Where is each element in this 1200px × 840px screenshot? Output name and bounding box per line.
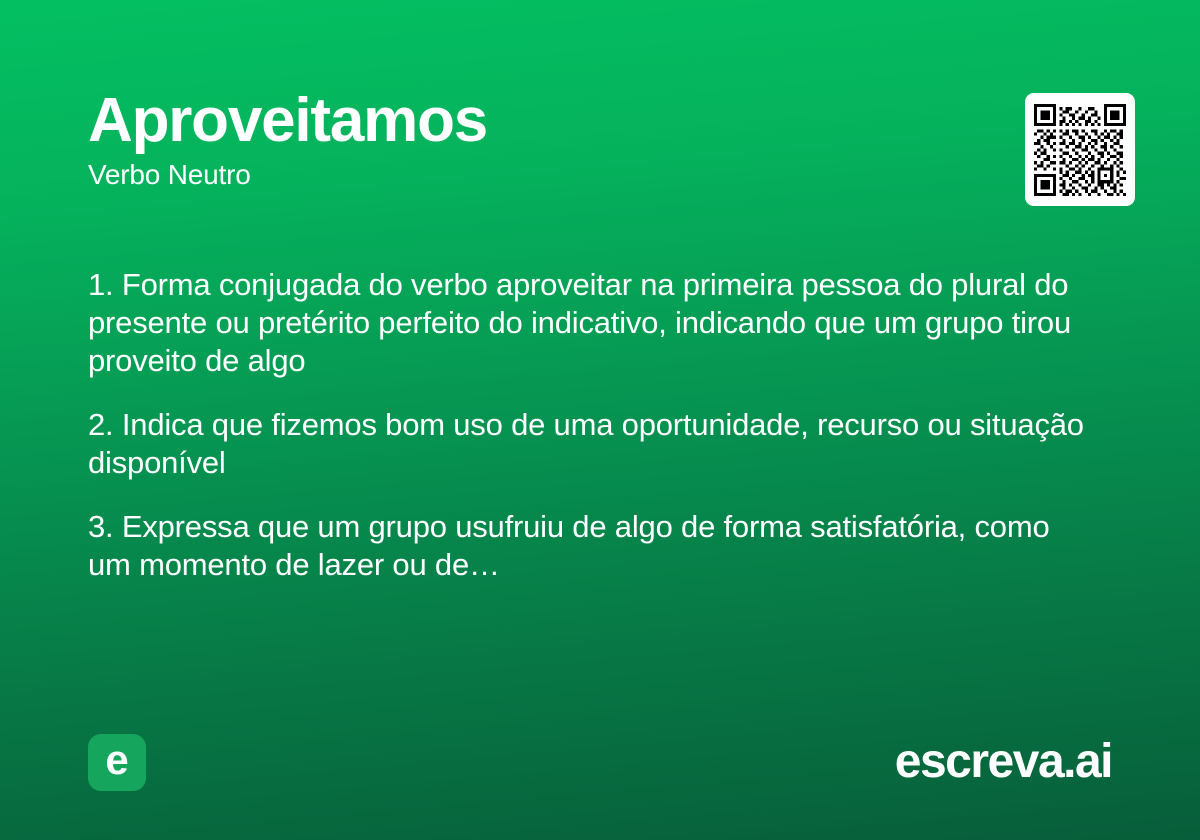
definition-list: 1. Forma conjugada do verbo aproveitar n… (88, 266, 1088, 584)
page-title: Aproveitamos (88, 88, 1112, 153)
escreva-logo-icon: e (88, 734, 146, 791)
word-class-subtitle: Verbo Neutro (88, 159, 1112, 191)
logo-letter: e (105, 739, 128, 781)
card-footer: e escreva.ai (88, 732, 1112, 792)
definition-item: 2. Indica que fizemos bom uso de uma opo… (88, 406, 1088, 482)
brand-wordmark: escreva.ai (895, 738, 1112, 786)
card-header: Aproveitamos Verbo Neutro (88, 88, 1112, 208)
qr-code-card[interactable] (1025, 93, 1135, 206)
definition-item: 1. Forma conjugada do verbo aproveitar n… (88, 266, 1088, 380)
definition-item: 3. Expressa que um grupo usufruiu de alg… (88, 508, 1088, 584)
qr-code-icon (1034, 104, 1126, 196)
definition-card: Aproveitamos Verbo Neutro (0, 0, 1200, 840)
